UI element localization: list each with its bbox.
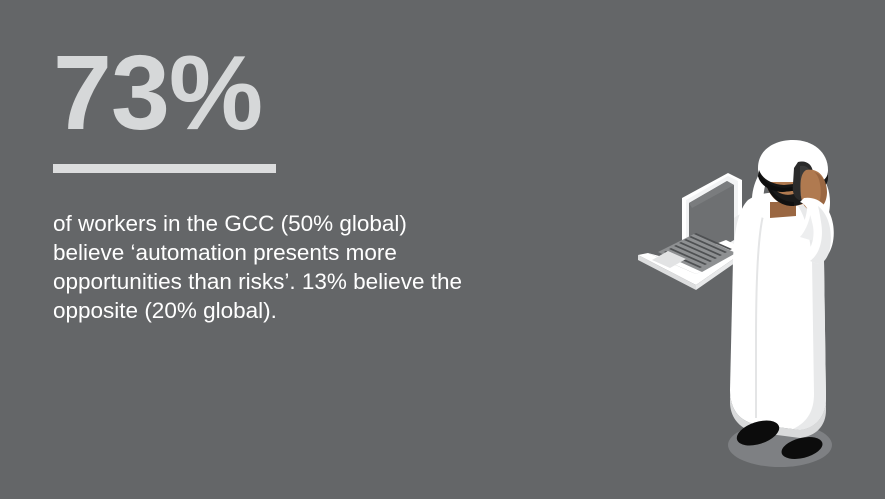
person-figure <box>730 140 834 463</box>
isometric-businessman-illustration <box>630 140 885 480</box>
illustration-container <box>630 140 885 480</box>
infographic-slide: 73% of workers in the GCC (50% global) b… <box>0 0 885 499</box>
text-block: 73% of workers in the GCC (50% global) b… <box>53 45 523 325</box>
laptop-icon <box>638 173 742 290</box>
headline-percentage: 73% <box>53 45 523 141</box>
body-copy: of workers in the GCC (50% global) belie… <box>53 209 483 325</box>
headline-divider-rule <box>53 164 276 173</box>
